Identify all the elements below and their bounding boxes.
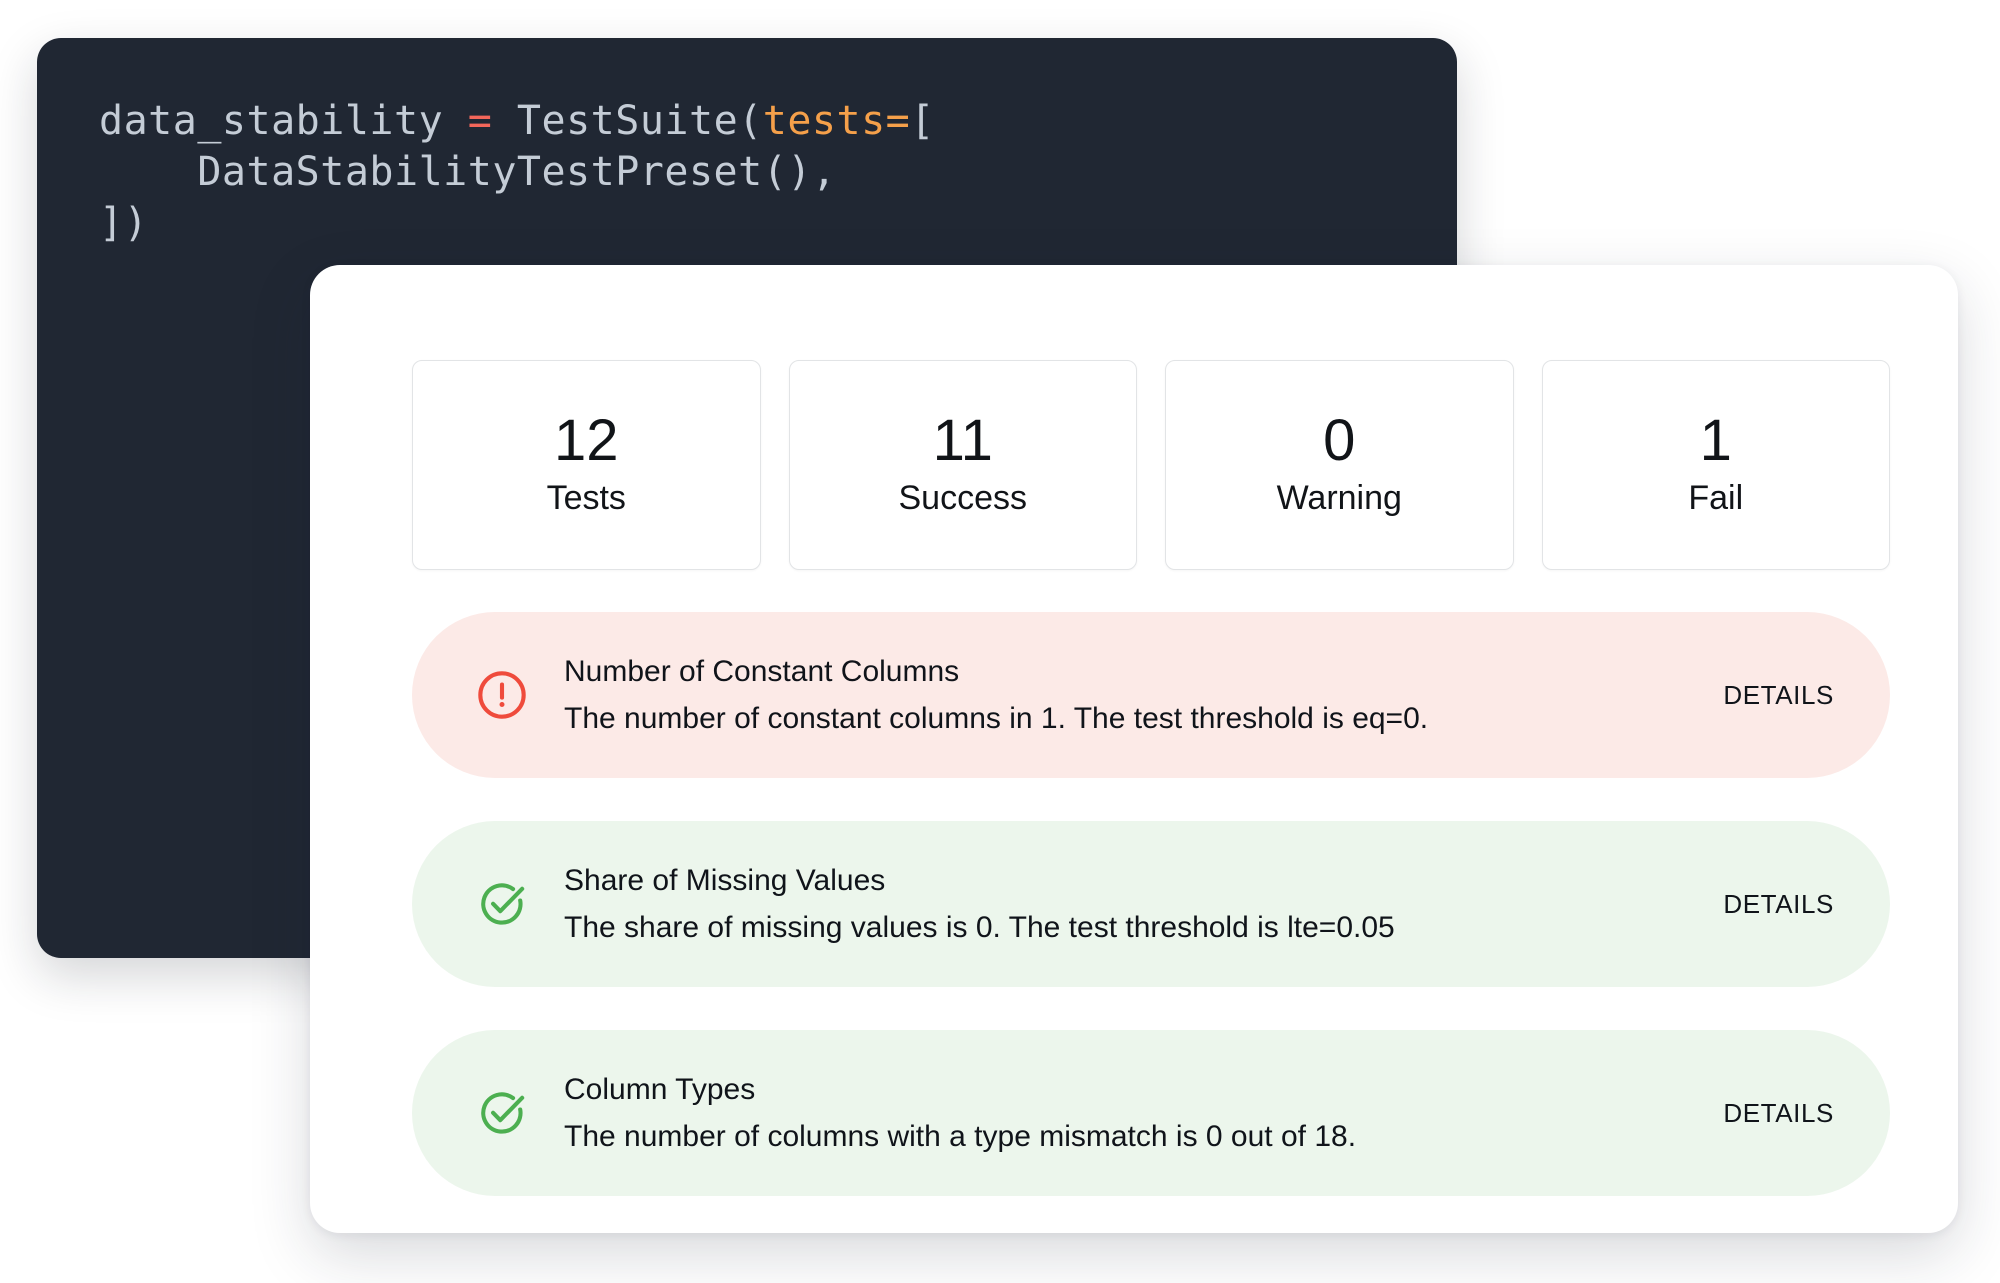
- code-token-keyword-argument: tests=: [763, 98, 911, 144]
- test-text-block: Column Types The number of columns with …: [564, 1071, 1675, 1155]
- test-report-panel: 12 Tests 11 Success 0 Warning 1 Fail: [310, 265, 1958, 1233]
- check-circle-icon: [476, 1087, 528, 1139]
- code-token-open-paren: (: [738, 98, 763, 144]
- code-token-close: ]): [99, 200, 148, 246]
- code-token-variable: data_stability: [99, 98, 468, 144]
- stat-label-warning: Warning: [1277, 478, 1402, 519]
- code-token-preset-call: DataStabilityTestPreset(),: [99, 149, 836, 195]
- test-title: Column Types: [564, 1071, 1675, 1109]
- details-button[interactable]: DETAILS: [1701, 672, 1856, 719]
- test-description: The number of constant columns in 1. The…: [564, 700, 1675, 738]
- code-token-classname: TestSuite: [492, 98, 738, 144]
- stat-value-success: 11: [933, 411, 993, 472]
- test-results-list: Number of Constant Columns The number of…: [412, 612, 1890, 1196]
- stat-label-success: Success: [899, 478, 1028, 519]
- stat-value-fail: 1: [1700, 411, 1732, 472]
- details-button[interactable]: DETAILS: [1701, 1090, 1856, 1137]
- stat-card-fail[interactable]: 1 Fail: [1542, 360, 1891, 570]
- test-description: The number of columns with a type mismat…: [564, 1118, 1675, 1156]
- stat-label-fail: Fail: [1688, 478, 1743, 519]
- summary-stats-row: 12 Tests 11 Success 0 Warning 1 Fail: [412, 360, 1890, 570]
- check-circle-icon: [476, 878, 528, 930]
- details-button[interactable]: DETAILS: [1701, 881, 1856, 928]
- stat-value-warning: 0: [1323, 411, 1355, 472]
- test-row[interactable]: Number of Constant Columns The number of…: [412, 612, 1890, 778]
- alert-circle-icon: [476, 669, 528, 721]
- screenshot-stage: data_stability = TestSuite(tests=[ DataS…: [0, 0, 2000, 1283]
- test-description: The share of missing values is 0. The te…: [564, 909, 1675, 947]
- code-block[interactable]: data_stability = TestSuite(tests=[ DataS…: [99, 96, 1457, 248]
- stat-card-tests[interactable]: 12 Tests: [412, 360, 761, 570]
- stat-value-tests: 12: [554, 411, 619, 472]
- test-row[interactable]: Column Types The number of columns with …: [412, 1030, 1890, 1196]
- stat-label-tests: Tests: [547, 478, 626, 519]
- stat-card-success[interactable]: 11 Success: [789, 360, 1138, 570]
- code-content: data_stability = TestSuite(tests=[ DataS…: [99, 98, 935, 246]
- test-row[interactable]: Share of Missing Values The share of mis…: [412, 821, 1890, 987]
- code-token-open-bracket: [: [910, 98, 935, 144]
- test-title: Number of Constant Columns: [564, 653, 1675, 691]
- stat-card-warning[interactable]: 0 Warning: [1165, 360, 1514, 570]
- test-text-block: Share of Missing Values The share of mis…: [564, 862, 1675, 946]
- test-text-block: Number of Constant Columns The number of…: [564, 653, 1675, 737]
- code-token-assign-operator: =: [468, 98, 493, 144]
- test-title: Share of Missing Values: [564, 862, 1675, 900]
